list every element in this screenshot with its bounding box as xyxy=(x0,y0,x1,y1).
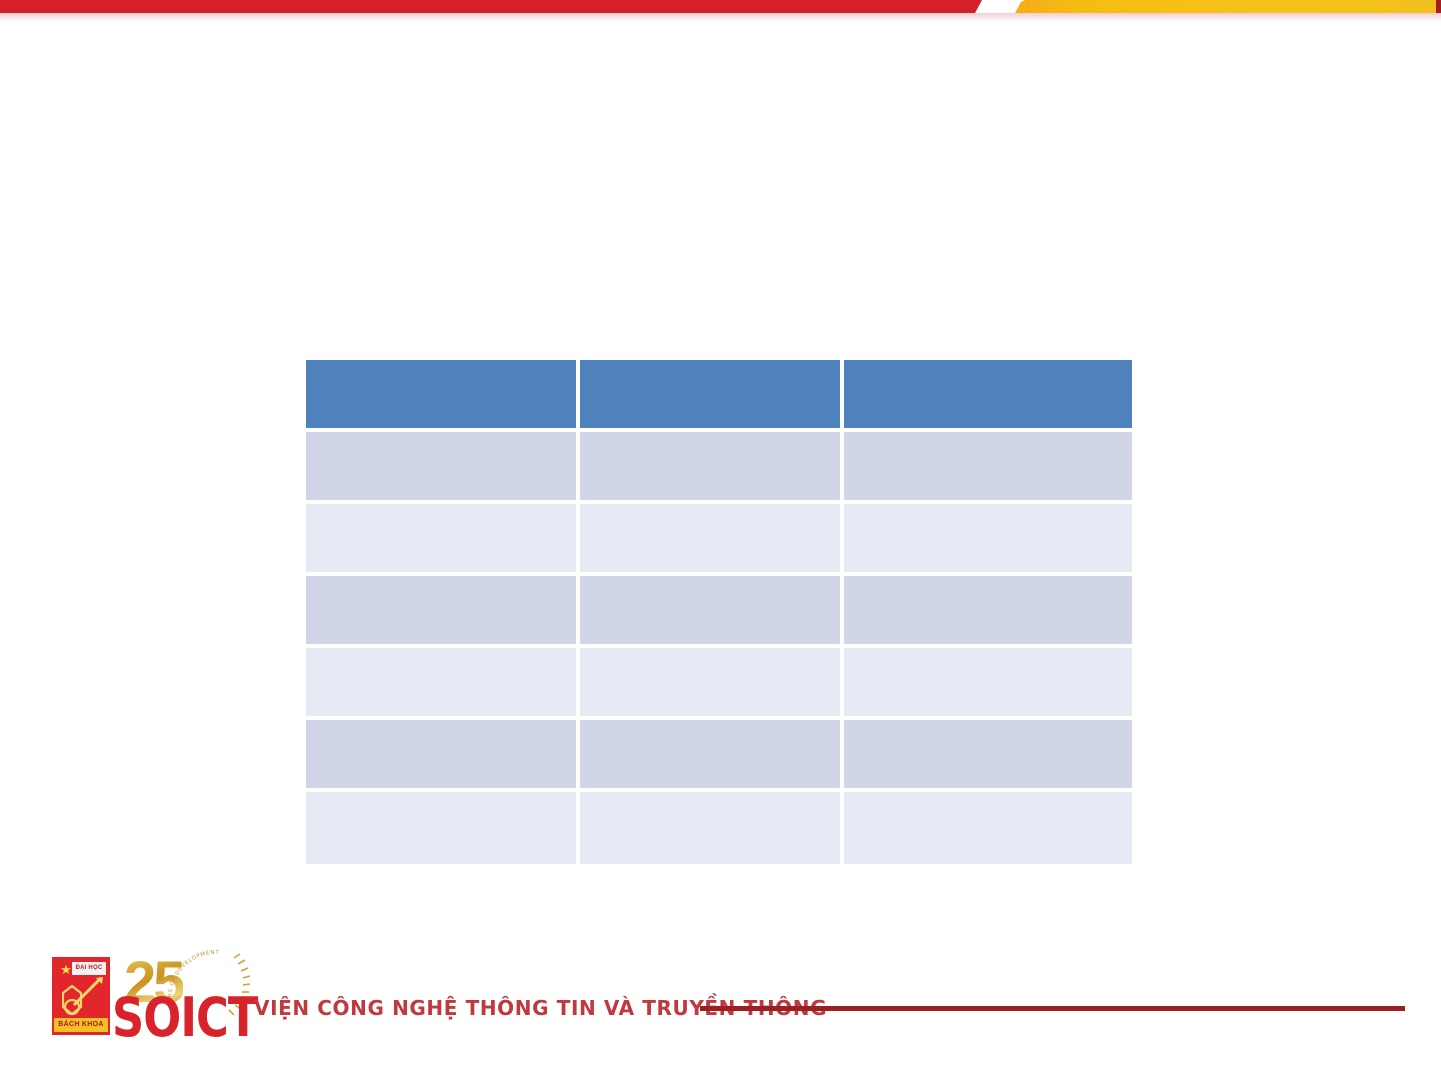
table-cell xyxy=(306,432,580,504)
table-cell-text xyxy=(844,576,1132,593)
table-cell-text xyxy=(580,792,840,809)
table-cell xyxy=(306,504,580,576)
table-cell-text xyxy=(580,432,840,449)
table-cell-text xyxy=(844,720,1132,737)
table-cell xyxy=(844,576,1132,648)
table-row xyxy=(306,504,1132,576)
table-cell xyxy=(580,792,844,864)
table-cell xyxy=(844,720,1132,792)
table-header-cell-2 xyxy=(580,360,844,432)
top-accent-banner xyxy=(0,0,1441,26)
table-cell xyxy=(580,504,844,576)
star-icon: ★ xyxy=(60,964,72,976)
banner-right-edge-accent xyxy=(1436,0,1441,13)
table-cell-text xyxy=(306,504,576,521)
table-cell xyxy=(306,720,580,792)
table-cell-text xyxy=(306,720,576,737)
table-cell-text xyxy=(580,720,840,737)
table-cell xyxy=(580,432,844,504)
table-cell xyxy=(844,792,1132,864)
table-row xyxy=(306,432,1132,504)
table-cell-text xyxy=(844,432,1132,449)
hust-badge-top-label: ĐẠI HỌC xyxy=(72,962,106,975)
table-cell-text xyxy=(580,648,840,665)
table-cell xyxy=(844,432,1132,504)
table-header-label-3 xyxy=(844,360,1132,377)
table-cell-text xyxy=(306,792,576,809)
content-table xyxy=(306,360,1132,864)
slide-canvas: ★ ĐẠI HỌC BÁCH KHOA 25 xyxy=(0,0,1441,1081)
table-cell-text xyxy=(580,504,840,521)
table-cell xyxy=(306,576,580,648)
table-cell-text xyxy=(306,648,576,665)
table-row xyxy=(306,720,1132,792)
table-cell-text xyxy=(306,432,576,449)
table-cell-text xyxy=(580,576,840,593)
table-cell xyxy=(580,576,844,648)
table-cell xyxy=(580,648,844,720)
banner-red-segment xyxy=(0,0,1010,13)
table-cell-text xyxy=(306,576,576,593)
slide-footer: ★ ĐẠI HỌC BÁCH KHOA 25 xyxy=(0,930,1441,1050)
table-header-row xyxy=(306,360,1132,432)
table-cell-text xyxy=(844,792,1132,809)
footer-divider-rule xyxy=(700,1006,1405,1011)
table-cell-text xyxy=(844,504,1132,521)
table-row xyxy=(306,648,1132,720)
table-cell-text xyxy=(844,648,1132,665)
table-header-cell-1 xyxy=(306,360,580,432)
table-row xyxy=(306,576,1132,648)
hust-badge-bottom-label: BÁCH KHOA xyxy=(54,1018,108,1032)
hust-badge-icon: ★ ĐẠI HỌC BÁCH KHOA xyxy=(50,955,112,1037)
banner-yellow-segment xyxy=(1000,0,1441,13)
table-cell xyxy=(844,504,1132,576)
table-body xyxy=(306,432,1132,864)
table-header xyxy=(306,360,1132,432)
table-cell xyxy=(306,648,580,720)
table-header-label-1 xyxy=(306,360,576,377)
table-cell xyxy=(580,720,844,792)
banner-shadow-fade xyxy=(0,13,1441,22)
table-row xyxy=(306,792,1132,864)
hust-emblem-icon xyxy=(62,977,104,1021)
table-header-label-2 xyxy=(580,360,840,377)
table-cell xyxy=(844,648,1132,720)
table-header-cell-3 xyxy=(844,360,1132,432)
table-cell xyxy=(306,792,580,864)
soict-wordmark: SOICT xyxy=(112,992,257,1044)
